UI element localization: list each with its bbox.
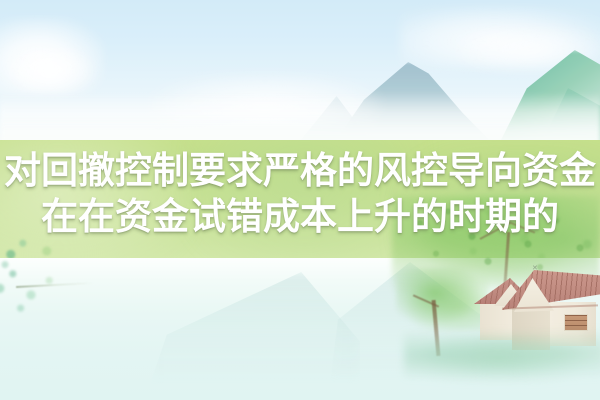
cloud-top-left-secondary-icon (8, 48, 94, 94)
tree-left-of-house (396, 268, 488, 330)
bird-icon: ✕ (532, 266, 539, 270)
decorative-banner-image: ✕ 对回撤控制要求严格的风控导向资金在在资金试错成本上升的时期的 (0, 0, 600, 400)
mountain-reflection-left (150, 272, 360, 384)
branch-sprig-band-left (0, 232, 114, 258)
branch-sprig-left (0, 258, 122, 320)
cottage-window (564, 314, 588, 331)
meadow-highlight-center (190, 140, 420, 258)
shrubs-below-house (404, 330, 600, 382)
